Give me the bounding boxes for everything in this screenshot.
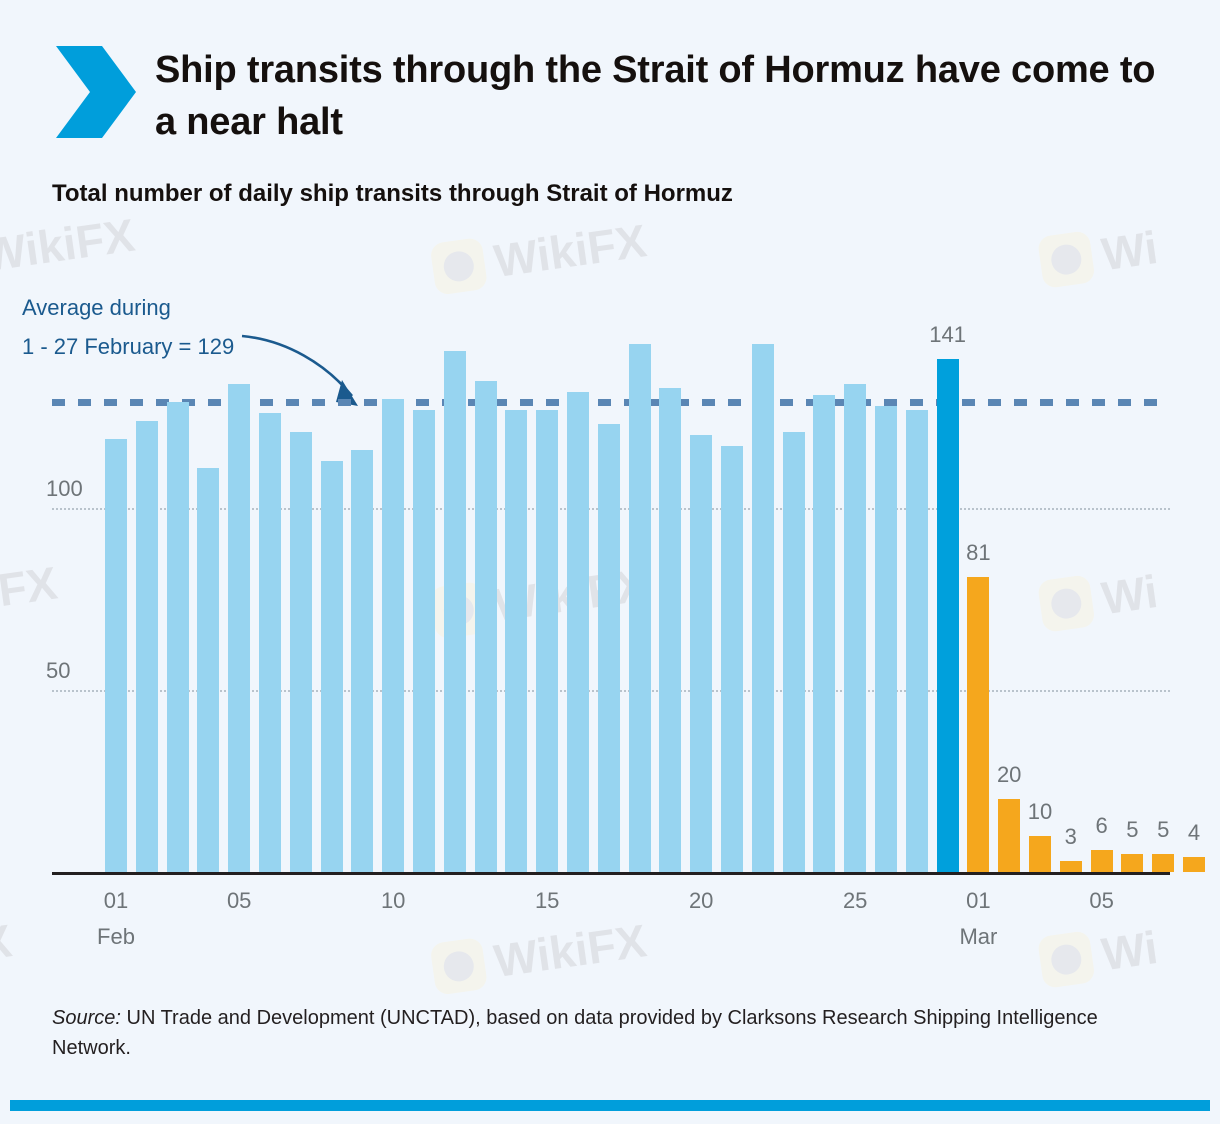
x-tick-label: 10	[381, 888, 405, 914]
bar-value-label: 6	[1095, 813, 1107, 839]
bar	[721, 446, 743, 872]
watermark: iFX	[0, 913, 15, 976]
bar	[475, 381, 497, 872]
watermark: Wi	[1037, 220, 1161, 290]
bar	[906, 410, 928, 872]
gridline-100	[52, 508, 1170, 510]
chart-plot-area: 100 50 01Feb051015202501Mar05 1418120103…	[0, 0, 1220, 1124]
annotation-arrow-icon	[238, 330, 378, 420]
x-tick-month-label: Feb	[97, 924, 135, 950]
bar	[197, 468, 219, 872]
watermark: kiFX	[0, 556, 60, 623]
y-tick-label-50: 50	[46, 658, 70, 684]
bar	[382, 399, 404, 872]
x-tick-label: 25	[843, 888, 867, 914]
bar	[752, 344, 774, 872]
bar	[413, 410, 435, 872]
bar	[259, 413, 281, 872]
bar	[844, 384, 866, 872]
bar	[690, 435, 712, 872]
bar	[290, 432, 312, 872]
source-text: UN Trade and Development (UNCTAD), based…	[52, 1007, 1098, 1059]
watermark-badge-icon	[429, 237, 488, 296]
bar	[598, 424, 620, 872]
x-tick-label: 05	[227, 888, 251, 914]
x-tick-label: 15	[535, 888, 559, 914]
x-tick-label: 01	[104, 888, 128, 914]
bar-value-label: 3	[1065, 824, 1077, 850]
bar	[1091, 850, 1113, 872]
watermark-text: Wi	[1098, 220, 1161, 281]
source-label: Source:	[52, 1007, 121, 1029]
watermark: WikiFX	[429, 913, 649, 996]
watermark-badge-icon	[429, 581, 488, 640]
watermark: WikiFX	[429, 557, 649, 640]
bar	[659, 388, 681, 872]
bar	[505, 410, 527, 872]
bar-value-label: 141	[929, 322, 966, 348]
watermark-text: iFX	[0, 913, 15, 976]
bar	[629, 344, 651, 872]
watermark-text: WikiFX	[0, 208, 138, 283]
bar	[536, 410, 558, 872]
average-reference-line	[52, 399, 1170, 406]
bar	[937, 359, 959, 872]
average-annotation-line2: 1 - 27 February = 129	[22, 327, 234, 366]
watermark: Wi	[1037, 920, 1161, 990]
bar	[567, 392, 589, 872]
bar	[967, 577, 989, 872]
watermark-text: WikiFX	[491, 557, 650, 632]
gridline-50	[52, 690, 1170, 692]
bar	[875, 406, 897, 872]
bar-value-label: 81	[966, 540, 990, 566]
watermark-text: Wi	[1098, 920, 1161, 981]
watermark: Wi	[1037, 564, 1161, 634]
bar	[351, 450, 373, 872]
bar	[105, 439, 127, 872]
bottom-accent-bar	[10, 1100, 1210, 1111]
bar	[321, 461, 343, 872]
watermark-badge-icon	[1037, 930, 1096, 989]
x-tick-label: 05	[1089, 888, 1113, 914]
bar-value-label: 10	[1028, 799, 1052, 825]
bar	[1029, 836, 1051, 872]
bar	[813, 395, 835, 872]
bar	[228, 384, 250, 872]
watermark: WikiFX	[0, 208, 138, 283]
page-title: Ship transits through the Strait of Horm…	[155, 44, 1165, 149]
x-tick-label: 20	[689, 888, 713, 914]
watermark-text: WikiFX	[491, 913, 650, 988]
bar	[444, 351, 466, 872]
x-tick-label: 01	[966, 888, 990, 914]
average-annotation-line1: Average during	[22, 288, 234, 327]
watermark-text: WikiFX	[491, 213, 650, 288]
average-annotation: Average during 1 - 27 February = 129	[22, 288, 234, 366]
x-tick-month-label: Mar	[959, 924, 997, 950]
bar-value-label: 5	[1126, 817, 1138, 843]
bar	[1183, 857, 1205, 872]
watermark: WikiFX	[429, 213, 649, 296]
watermark-text: Wi	[1098, 564, 1161, 625]
source-note: Source: UN Trade and Development (UNCTAD…	[52, 1003, 1162, 1063]
watermark-badge-icon	[429, 937, 488, 996]
bar	[998, 799, 1020, 872]
bar	[783, 432, 805, 872]
bar	[136, 421, 158, 872]
bar	[1121, 854, 1143, 872]
bar-value-label: 5	[1157, 817, 1169, 843]
bar-value-label: 4	[1188, 820, 1200, 846]
chevron-right-icon	[52, 42, 140, 142]
watermark-text: kiFX	[0, 556, 60, 623]
watermark-badge-icon	[1037, 230, 1096, 289]
bar	[167, 402, 189, 872]
header: Ship transits through the Strait of Horm…	[0, 0, 1220, 160]
y-tick-label-100: 100	[46, 476, 83, 502]
watermark-badge-icon	[1037, 574, 1096, 633]
x-axis-line	[52, 872, 1170, 875]
bar-value-label: 20	[997, 762, 1021, 788]
bar	[1152, 854, 1174, 872]
bar	[1060, 861, 1082, 872]
chart-subtitle: Total number of daily ship transits thro…	[52, 180, 1152, 208]
